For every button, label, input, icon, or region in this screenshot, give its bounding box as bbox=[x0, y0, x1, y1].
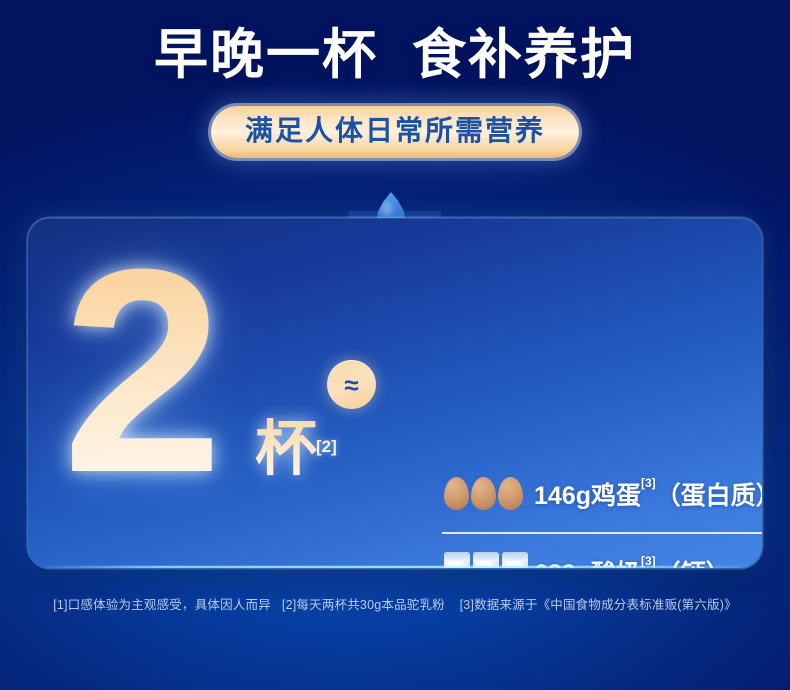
nutrition-rows: 146g鸡蛋 [3] （蛋白质） 683g酸奶 [3] （钙） bbox=[442, 456, 762, 568]
nutrition-row-text: 683g酸奶 [3] （钙） bbox=[534, 554, 731, 568]
subtitle-pill-wrap: 满足人体日常所需营养 bbox=[0, 106, 790, 158]
egg-icon bbox=[498, 477, 523, 510]
nutrition-nutrient: （蛋白质） bbox=[656, 476, 762, 512]
egg-icon-group bbox=[442, 468, 534, 520]
big-number: 2 bbox=[62, 226, 217, 516]
unit-word: 杯 bbox=[255, 418, 317, 480]
nutrition-amount: 683g酸奶 bbox=[534, 554, 641, 568]
milk-glass-icon bbox=[473, 552, 499, 568]
page-title: 早晚一杯 食补养护 bbox=[0, 24, 790, 88]
nutrition-row-text: 146g鸡蛋 [3] （蛋白质） bbox=[534, 476, 762, 512]
nutrition-superscript: [3] bbox=[641, 477, 656, 489]
nutrition-superscript: [3] bbox=[641, 555, 656, 567]
milk-glass-icon bbox=[444, 552, 470, 568]
subtitle-pill: 满足人体日常所需营养 bbox=[211, 106, 579, 158]
footnotes: [1]口感体验为主观感受，具体因人而异 [2]每天两杯共30g本品驼乳粉 [3]… bbox=[0, 594, 790, 613]
egg-icon bbox=[444, 477, 469, 510]
unit-superscript: [2] bbox=[316, 437, 337, 457]
promo-banner: 早晚一杯 食补养护 满足人体日常所需营养 146g鸡蛋 [3] （蛋白质） bbox=[0, 0, 790, 690]
nutrition-amount: 146g鸡蛋 bbox=[534, 476, 641, 512]
egg-icon bbox=[471, 477, 496, 510]
milk-glass-icon-group bbox=[442, 546, 534, 568]
nutrition-row-egg: 146g鸡蛋 [3] （蛋白质） bbox=[442, 456, 762, 532]
approx-badge: ≈ bbox=[327, 360, 376, 409]
milk-glass-icon bbox=[502, 552, 528, 568]
nutrition-nutrient: （钙） bbox=[656, 554, 731, 568]
nutrition-row-yogurt: 683g酸奶 [3] （钙） bbox=[442, 532, 762, 568]
